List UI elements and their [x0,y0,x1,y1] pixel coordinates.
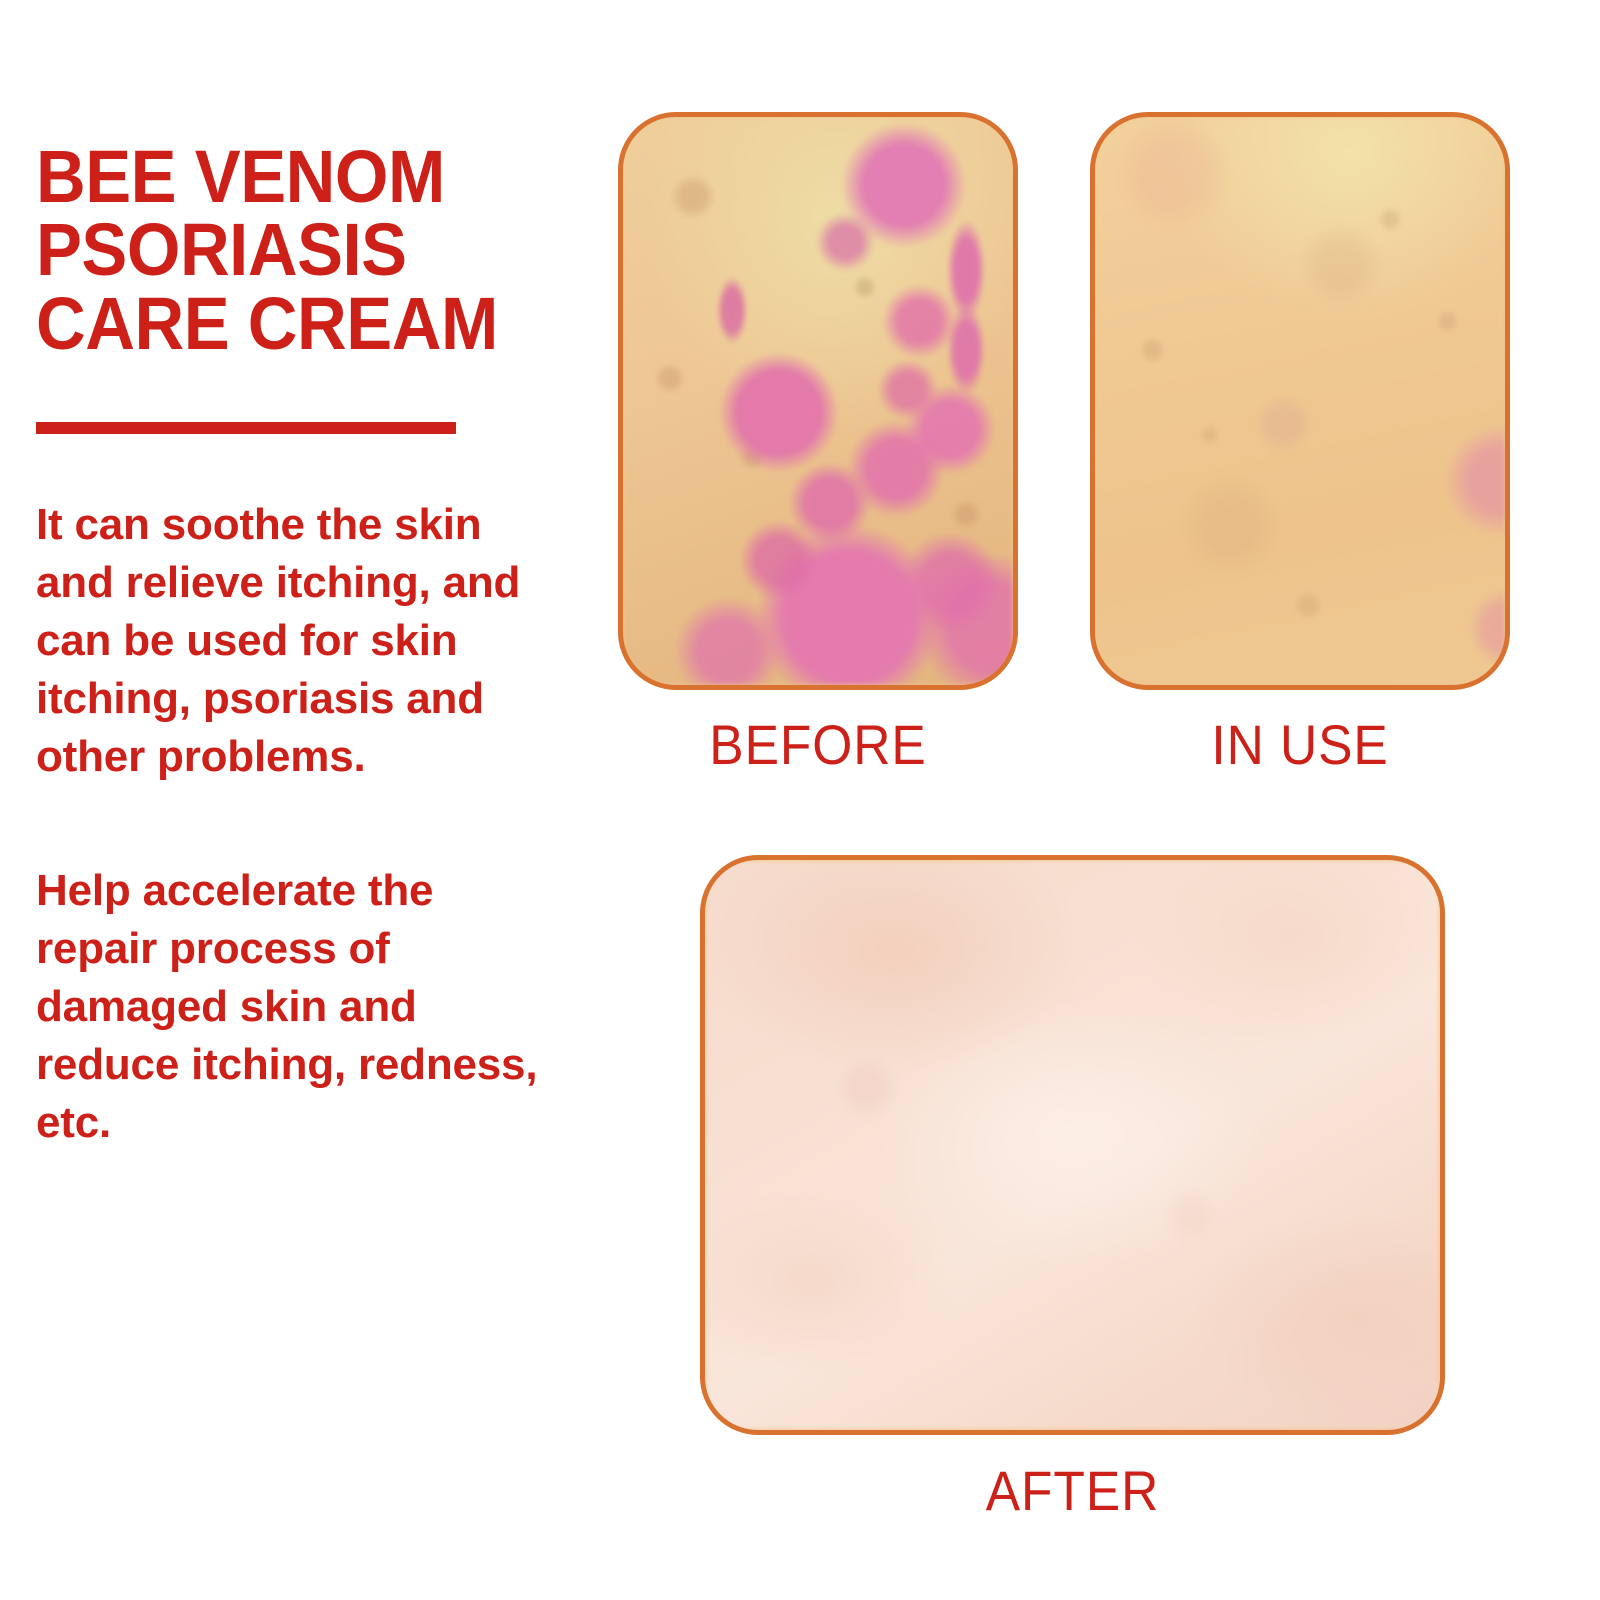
treated-skin-image [1095,117,1505,685]
product-benefit-poster: BEE VENOM PSORIASIS CARE CREAM It can so… [0,0,1600,1600]
after-photo [700,855,1445,1435]
title-divider-rule [36,422,456,434]
text-column: BEE VENOM PSORIASIS CARE CREAM It can so… [36,140,581,1153]
in-use-photo-caption: IN USE [1107,712,1493,777]
page-title: BEE VENOM PSORIASIS CARE CREAM [36,140,543,360]
psoriasis-affected-skin-image [623,117,1013,685]
healed-skin-image [705,860,1440,1430]
before-photo [618,112,1018,690]
after-photo-caption: AFTER [730,1458,1415,1523]
before-photo-caption: BEFORE [634,712,1002,777]
benefit-paragraph-1: It can soothe the skin and relieve itchi… [36,496,546,786]
in-use-photo [1090,112,1510,690]
benefit-paragraph-2: Help accelerate the repair process of da… [36,862,546,1152]
